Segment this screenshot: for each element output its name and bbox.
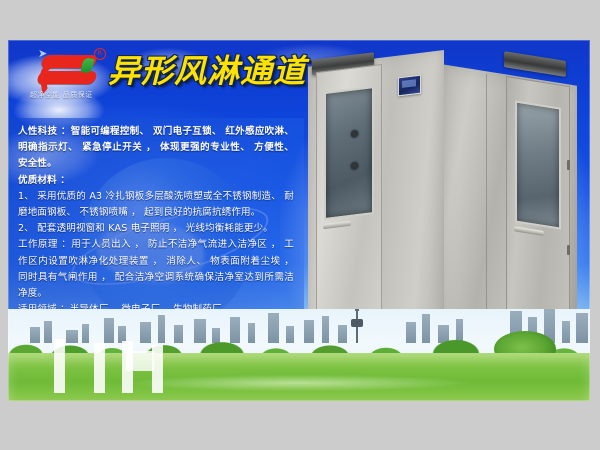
side-door — [506, 76, 570, 334]
front-door — [316, 64, 382, 318]
spec-line-materials-heading: 优质材料 ： — [18, 173, 294, 189]
spec-line-humanized-tech: 人性科技 ：智能可编程控制、 双门电子互锁、 红外感应吹淋、 明确指示灯、 紧急… — [18, 124, 294, 173]
page-title: 异形风淋通道 — [108, 46, 306, 92]
registered-trademark-icon: R — [94, 48, 106, 60]
white-patch-overlay — [126, 351, 154, 371]
city-skyline-and-grass — [8, 309, 590, 401]
spec-line-material-1: 1、 采用优质的 A3 冷扎钢板多层酸洗喷塑或全不锈钢制造、 耐磨地面钢板、 不… — [18, 189, 294, 221]
door-handle — [323, 221, 351, 229]
door-hinge — [567, 160, 570, 170]
door-handle — [514, 226, 544, 236]
panel-seam — [486, 74, 487, 330]
specification-panel: 人性科技 ：智能可编程控制、 双门电子互锁、 红外感应吹淋、 明确指示灯、 紧急… — [8, 118, 304, 326]
spec-line-working-principle: 工作原理 ：用于人员出入 ， 防止不洁净气流进入洁净区 ， 工作区内设置吹淋净化… — [18, 237, 294, 302]
spec-line-material-2: 2、 配套透明视窗和 KAS 电子照明 ， 光线均衡耗能更少。 — [18, 221, 294, 237]
page-canvas: ➤ ➤ ➤ ➤ R 超净空能 品质保证 异形风淋通道 人性科技 ：智能可编程控制… — [0, 0, 600, 450]
white-bar-overlay — [94, 343, 105, 393]
view-window — [324, 86, 374, 220]
control-panel — [398, 75, 421, 97]
product-photo-air-shower — [290, 40, 590, 352]
door-hinge — [567, 245, 570, 255]
view-window — [515, 100, 561, 229]
product-promo-banner: ➤ ➤ ➤ ➤ R 超净空能 品质保证 异形风淋通道 人性科技 ：智能可编程控制… — [8, 40, 590, 401]
logo-mark-icon — [38, 51, 102, 89]
white-bar-overlay — [54, 339, 65, 393]
